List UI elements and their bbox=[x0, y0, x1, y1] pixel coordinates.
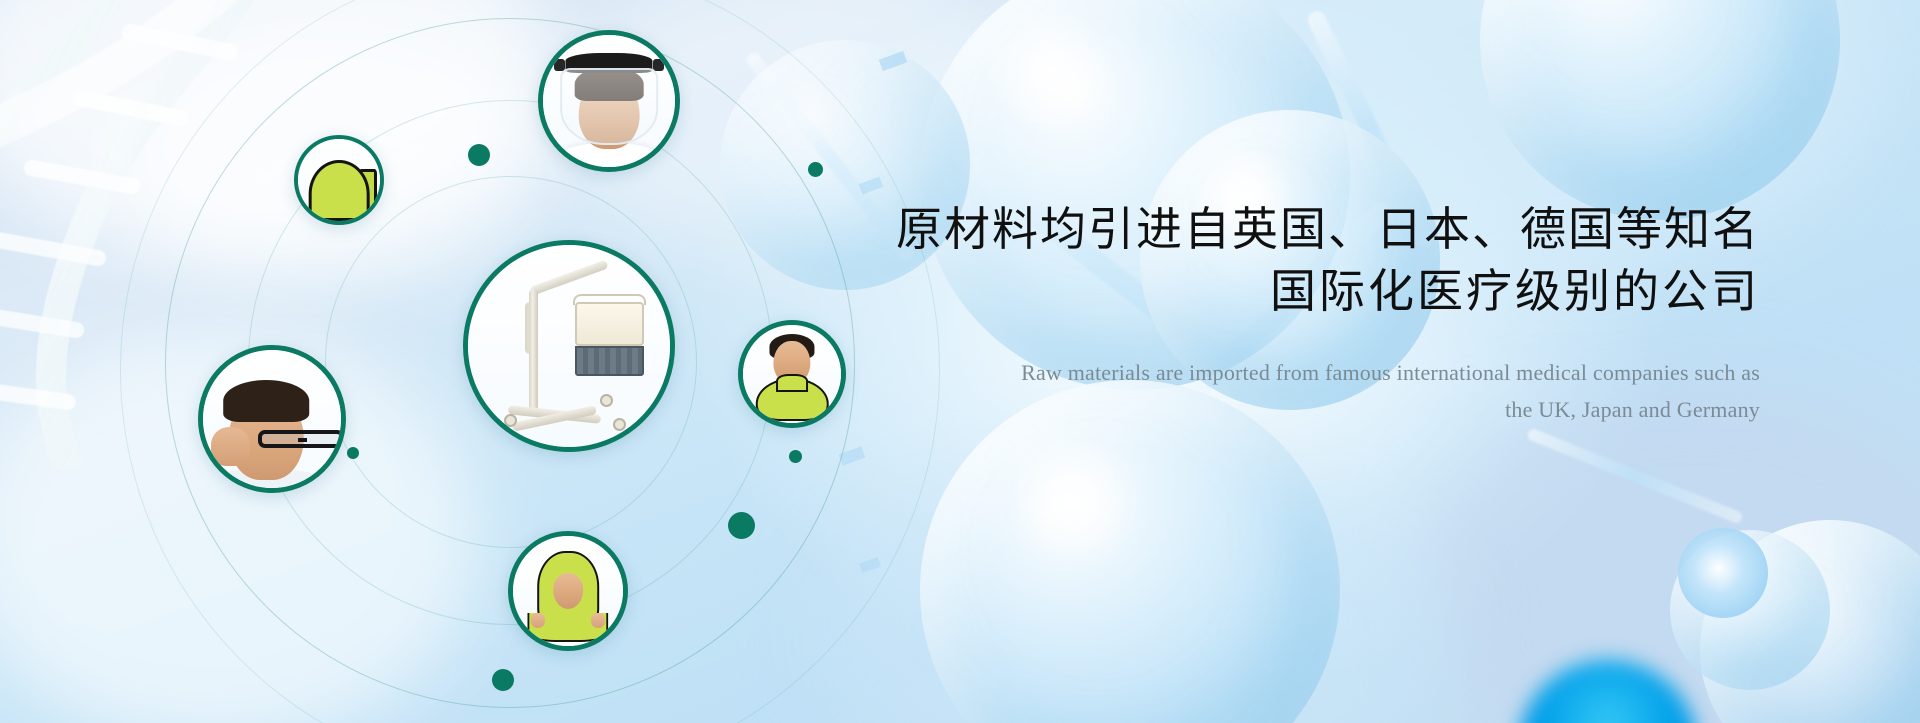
bubble-lead-glasses-man[interactable] bbox=[198, 345, 346, 493]
lead-cap-photo bbox=[298, 139, 380, 221]
lead-glasses-man-photo bbox=[203, 350, 341, 488]
subtitle-line-2: the UK, Japan and Germany bbox=[860, 391, 1760, 428]
headline-line-2: 国际化医疗级别的公司 bbox=[860, 260, 1760, 322]
subtitle-line-1: Raw materials are imported from famous i… bbox=[860, 354, 1760, 391]
hero-banner: 原材料均引进自英国、日本、德国等知名 国际化医疗级别的公司 Raw materi… bbox=[0, 0, 1920, 723]
orbit-dot-2 bbox=[808, 162, 823, 177]
bubble-mobile-xray-shield[interactable] bbox=[463, 240, 675, 452]
orbit-dot-3 bbox=[347, 447, 359, 459]
hero-copy: 原材料均引进自英国、日本、德国等知名 国际化医疗级别的公司 Raw materi… bbox=[860, 198, 1760, 428]
bubble-face-shield-man[interactable] bbox=[538, 30, 680, 172]
mobile-xray-shield-photo bbox=[468, 245, 670, 447]
protective-hood-woman-photo bbox=[513, 536, 623, 646]
bubble-lead-cap[interactable] bbox=[294, 135, 384, 225]
orbit-dot-4 bbox=[789, 450, 802, 463]
bubble-thyroid-collar-woman[interactable] bbox=[738, 320, 846, 428]
headline-line-1: 原材料均引进自英国、日本、德国等知名 bbox=[860, 198, 1760, 260]
subtitle-block: Raw materials are imported from famous i… bbox=[860, 354, 1760, 428]
bubble-protective-hood-woman[interactable] bbox=[508, 531, 628, 651]
orbit-dot-5 bbox=[728, 512, 755, 539]
orbit-dot-1 bbox=[468, 144, 490, 166]
thyroid-collar-woman-photo bbox=[743, 325, 841, 423]
orbit-dot-6 bbox=[492, 669, 514, 691]
face-shield-man-photo bbox=[543, 35, 675, 167]
